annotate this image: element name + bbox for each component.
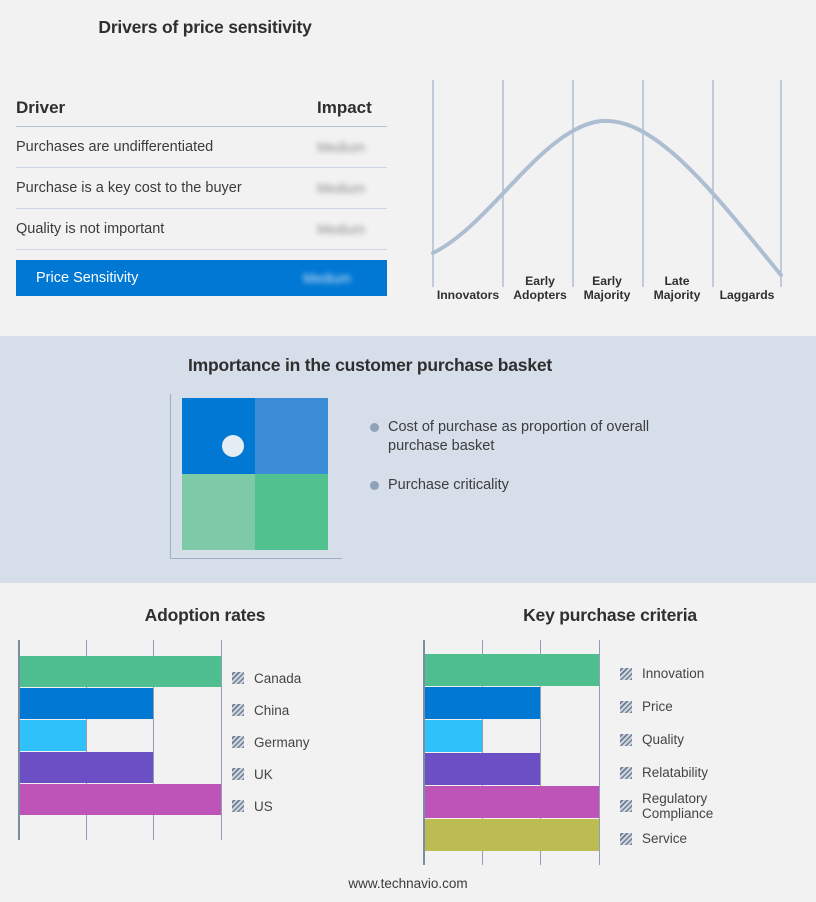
- bar: [425, 654, 599, 686]
- lifecycle-stage-early-adopters: Early Adopters: [505, 274, 575, 302]
- column-header-driver: Driver: [16, 98, 65, 118]
- driver-label: Purchases are undifferentiated: [16, 139, 213, 155]
- legend-item: Price: [620, 690, 713, 723]
- lifecycle-stage-innovators: Innovators: [433, 288, 503, 302]
- hatch-swatch-icon: [232, 704, 244, 716]
- legend-label: Canada: [254, 671, 301, 686]
- drivers-table: Driver Impact Purchases are undifferenti…: [16, 90, 387, 296]
- hatch-swatch-icon: [620, 767, 632, 779]
- hatch-swatch-icon: [620, 668, 632, 680]
- chart-legend: CanadaChinaGermanyUKUS: [232, 662, 310, 822]
- summary-label: Price Sensitivity: [36, 270, 138, 286]
- legend-label: Service: [642, 831, 687, 846]
- bar: [425, 687, 540, 719]
- legend-item: US: [232, 790, 310, 822]
- lifecycle-stage-laggards: Laggards: [712, 288, 782, 302]
- impact-value: Medium: [317, 222, 387, 237]
- hatch-swatch-icon: [232, 736, 244, 748]
- quadrant-grid: [182, 398, 328, 550]
- adoption-rates-title: Adoption rates: [0, 605, 410, 626]
- key-purchase-criteria-title: Key purchase criteria: [405, 605, 815, 626]
- hatch-swatch-icon: [232, 672, 244, 684]
- impact-value: Medium: [317, 181, 387, 196]
- legend-item: Germany: [232, 726, 310, 758]
- hatch-swatch-icon: [232, 768, 244, 780]
- hatch-swatch-icon: [620, 701, 632, 713]
- legend-label: Purchase criticality: [388, 476, 509, 495]
- legend-label: US: [254, 799, 273, 814]
- basket-title: Importance in the customer purchase bask…: [0, 355, 740, 376]
- bar: [425, 819, 599, 851]
- hatch-swatch-icon: [232, 800, 244, 812]
- legend-item: Quality: [620, 723, 713, 756]
- bullet-icon: [370, 481, 379, 490]
- legend-item: Purchase criticality: [370, 476, 670, 495]
- chart-legend: InnovationPriceQualityRelatabilityRegula…: [620, 657, 713, 855]
- hatch-swatch-icon: [620, 833, 632, 845]
- hatch-swatch-icon: [620, 800, 632, 812]
- summary-impact-value: Medium: [303, 271, 387, 286]
- adoption-bell-curve: [433, 121, 781, 275]
- driver-label: Purchase is a key cost to the buyer: [16, 180, 242, 196]
- bar: [20, 752, 153, 783]
- quadrant-bottom-left: [182, 474, 255, 550]
- table-header-row: Driver Impact: [16, 90, 387, 127]
- bar: [425, 753, 540, 785]
- impact-value: Medium: [317, 140, 387, 155]
- legend-item: Innovation: [620, 657, 713, 690]
- legend-label: Relatability: [642, 765, 708, 780]
- position-marker-dot: [222, 435, 244, 457]
- legend-label: Germany: [254, 735, 310, 750]
- drivers-panel: Drivers of price sensitivity Driver Impa…: [0, 0, 410, 336]
- price-sensitivity-summary-row: Price Sensitivity Medium: [16, 260, 387, 296]
- legend-label: Quality: [642, 732, 684, 747]
- lifecycle-curve-chart: [420, 75, 790, 290]
- legend-item: UK: [232, 758, 310, 790]
- bar: [425, 786, 599, 818]
- bar: [20, 688, 153, 719]
- quadrant-bottom-right: [255, 474, 328, 550]
- gridline: [599, 640, 600, 865]
- lifecycle-stage-late-majority: Late Majority: [642, 274, 712, 302]
- legend-item: Regulatory Compliance: [620, 789, 713, 822]
- quadrant-top-left: [182, 398, 255, 474]
- legend-label: Regulatory Compliance: [642, 791, 713, 821]
- gridline: [221, 640, 222, 840]
- bar: [20, 720, 86, 751]
- legend-item: China: [232, 694, 310, 726]
- matrix-y-axis: [170, 394, 171, 558]
- table-row: Quality is not important Medium: [16, 209, 387, 250]
- table-row: Purchase is a key cost to the buyer Medi…: [16, 168, 387, 209]
- lifecycle-stage-early-majority: Early Majority: [572, 274, 642, 302]
- hatch-swatch-icon: [620, 734, 632, 746]
- legend-item: Service: [620, 822, 713, 855]
- legend-item: Relatability: [620, 756, 713, 789]
- bar: [20, 784, 221, 815]
- legend-label: UK: [254, 767, 273, 782]
- footer-url: www.technavio.com: [0, 876, 816, 891]
- bullet-icon: [370, 423, 379, 432]
- basket-legend: Cost of purchase as proportion of overal…: [370, 418, 670, 515]
- legend-item: Cost of purchase as proportion of overal…: [370, 418, 670, 456]
- bar: [20, 656, 221, 687]
- matrix-x-axis: [170, 558, 342, 559]
- drivers-title: Drivers of price sensitivity: [0, 17, 410, 38]
- legend-label: Cost of purchase as proportion of overal…: [388, 418, 670, 456]
- quadrant-top-right: [255, 398, 328, 474]
- legend-item: Canada: [232, 662, 310, 694]
- driver-label: Quality is not important: [16, 221, 164, 237]
- legend-label: China: [254, 703, 289, 718]
- column-header-impact: Impact: [317, 98, 387, 118]
- legend-label: Innovation: [642, 666, 704, 681]
- legend-label: Price: [642, 699, 673, 714]
- table-row: Purchases are undifferentiated Medium: [16, 127, 387, 168]
- bar: [425, 720, 482, 752]
